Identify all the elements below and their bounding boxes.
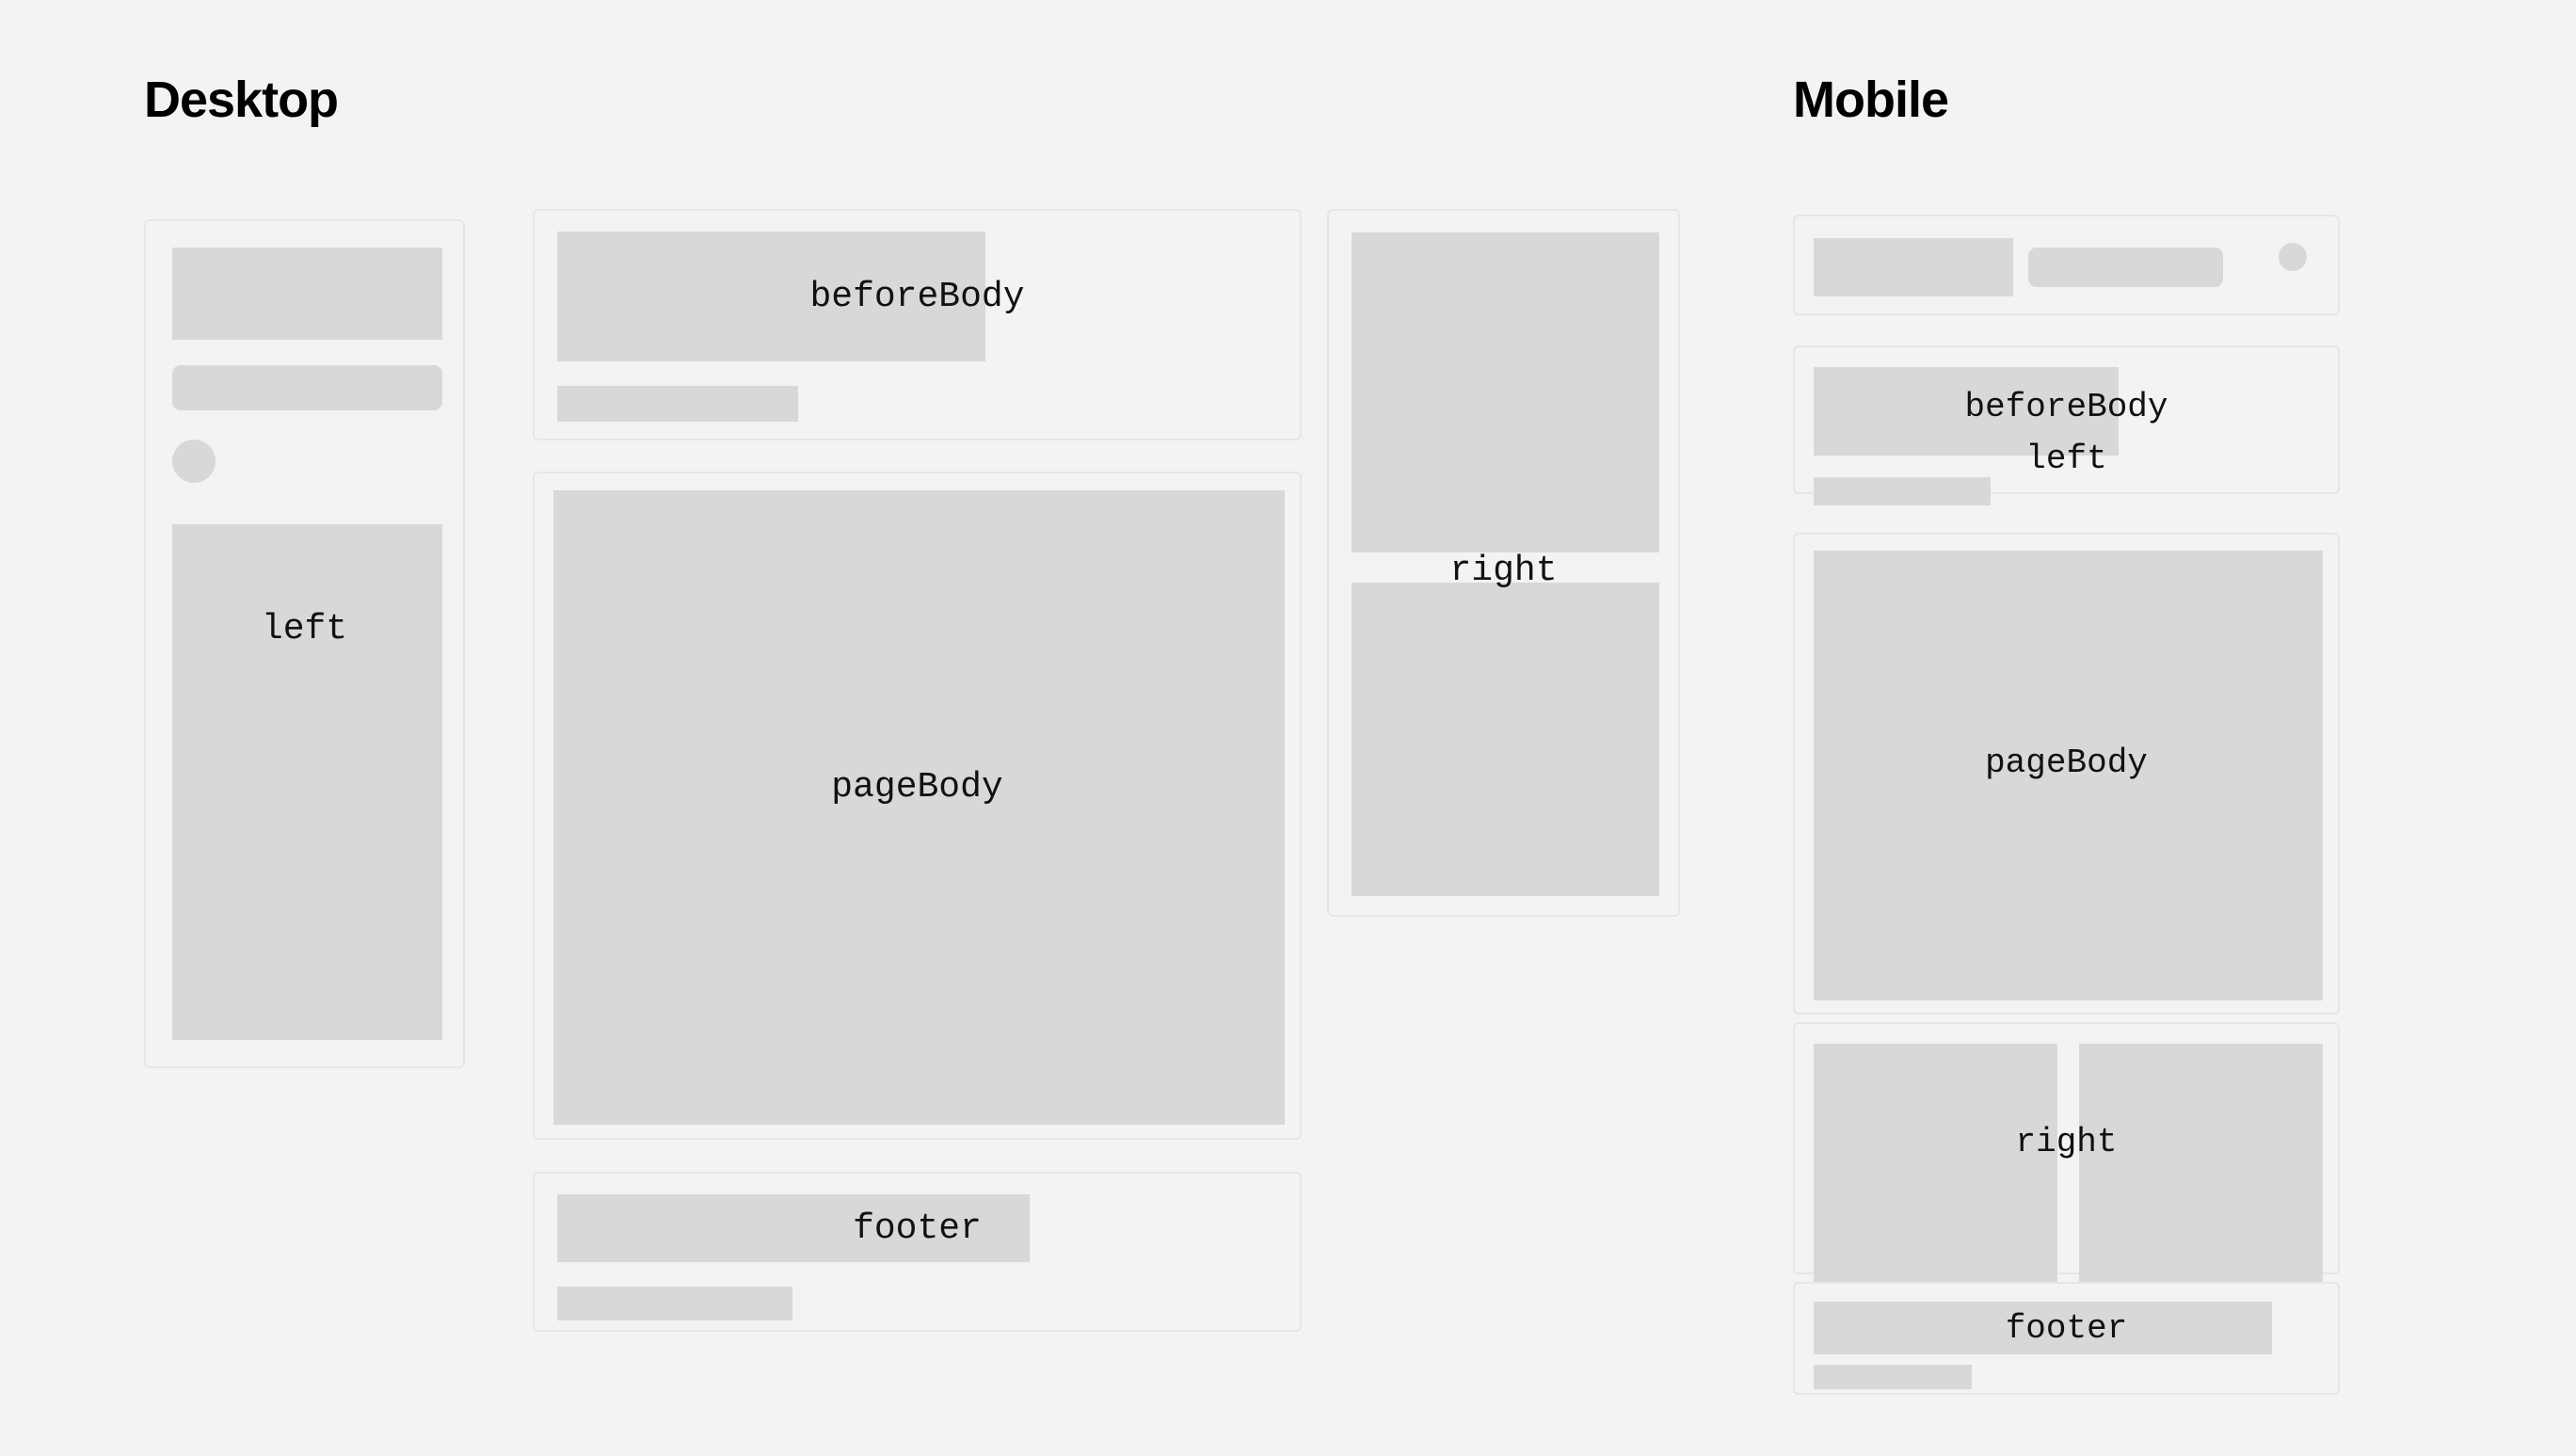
desktop-region-right-panel[interactable]: right [1327, 209, 1680, 917]
layout-preview-page: Desktop left beforeBody pageBody footer … [0, 0, 2576, 1456]
mobile-footer-block [1814, 1302, 2272, 1354]
desktop-footer-block [557, 1194, 1030, 1262]
desktop-left-nav-body-block [172, 524, 442, 1040]
desktop-pagebody-content-block [553, 490, 1285, 1125]
mobile-beforebody-banner-block [1814, 367, 2119, 456]
mobile-left-avatar-dot-icon [2279, 243, 2307, 271]
mobile-right-widget-block-left [1814, 1044, 2057, 1284]
desktop-region-beforebody-panel[interactable]: beforeBody [533, 209, 1302, 440]
mobile-beforebody-caption-bar [1814, 477, 1991, 505]
mobile-pagebody-content-block [1814, 551, 2323, 1000]
mobile-footer-caption-bar [1814, 1365, 1972, 1389]
mobile-left-header-block [1814, 238, 2013, 296]
mobile-region-left-panel[interactable]: left [1793, 215, 2340, 315]
desktop-region-left-panel[interactable]: left [144, 219, 465, 1068]
desktop-region-footer-panel[interactable]: footer [533, 1172, 1302, 1332]
mobile-region-right-panel[interactable]: right [1793, 1022, 2340, 1274]
mobile-region-beforebody-panel[interactable]: beforeBody [1793, 345, 2340, 494]
desktop-beforebody-banner-block [557, 232, 985, 361]
desktop-footer-caption-bar [557, 1287, 792, 1320]
desktop-right-widget-block-top [1352, 232, 1659, 552]
mobile-section-title: Mobile [1793, 72, 1948, 128]
desktop-left-header-block [172, 248, 442, 340]
desktop-section-title: Desktop [144, 72, 338, 128]
mobile-region-pagebody-panel[interactable]: pageBody [1793, 533, 2340, 1015]
mobile-right-widget-block-right [2079, 1044, 2323, 1284]
mobile-region-footer-panel[interactable]: footer [1793, 1282, 2340, 1395]
mobile-left-subheader-bar [2028, 248, 2223, 287]
desktop-beforebody-caption-bar [557, 386, 798, 422]
desktop-region-pagebody-panel[interactable]: pageBody [533, 472, 1302, 1140]
desktop-right-widget-block-bottom [1352, 583, 1659, 896]
desktop-left-subheader-bar [172, 365, 442, 410]
desktop-left-avatar-dot-icon [172, 440, 216, 483]
